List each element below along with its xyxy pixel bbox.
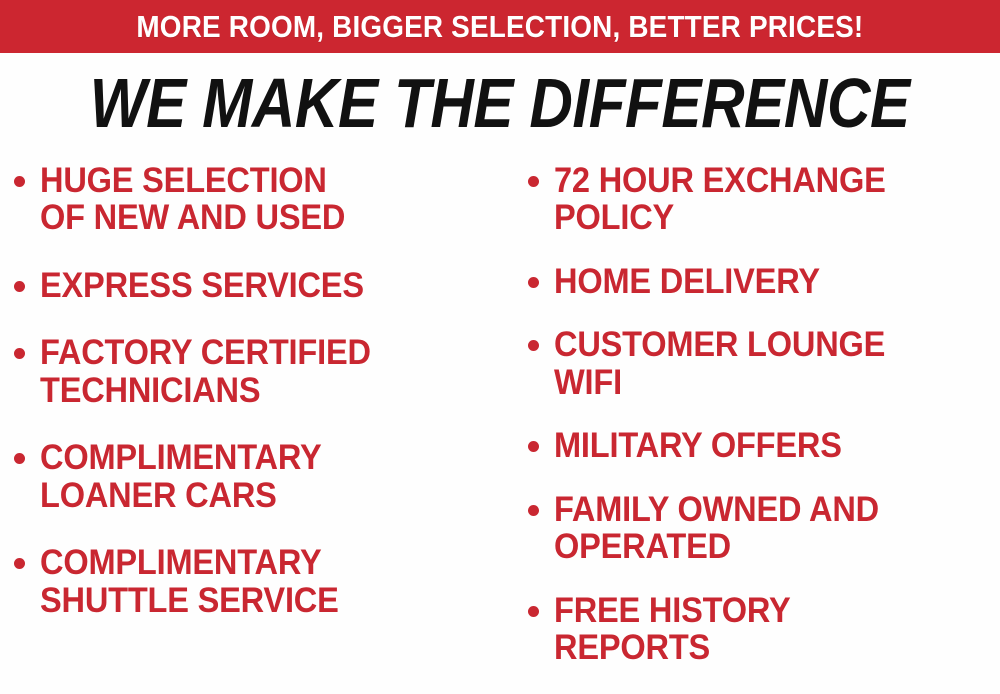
list-item: HOME DELIVERY bbox=[528, 263, 1000, 300]
list-item: HUGE SELECTION OF NEW AND USED bbox=[14, 162, 510, 237]
list-item: COMPLIMENTARY SHUTTLE SERVICE bbox=[14, 544, 510, 619]
features-column-left: HUGE SELECTION OF NEW AND USED EXPRESS S… bbox=[0, 152, 510, 694]
list-item: EXPRESS SERVICES bbox=[14, 267, 510, 304]
feature-label: FREE HISTORY REPORTS bbox=[554, 592, 791, 667]
bullet-dot-icon bbox=[14, 176, 25, 187]
feature-label: FACTORY CERTIFIED TECHNICIANS bbox=[40, 334, 371, 409]
promo-poster: MORE ROOM, BIGGER SELECTION, BETTER PRIC… bbox=[0, 0, 1000, 694]
page-title: WE MAKE THE DIFFERENCE bbox=[90, 68, 910, 138]
features-column-right: 72 HOUR EXCHANGE POLICY HOME DELIVERY CU… bbox=[510, 152, 1000, 694]
feature-label: FAMILY OWNED AND OPERATED bbox=[554, 491, 879, 566]
bullet-dot-icon bbox=[14, 348, 25, 359]
feature-list-left: HUGE SELECTION OF NEW AND USED EXPRESS S… bbox=[14, 162, 510, 619]
features-columns: HUGE SELECTION OF NEW AND USED EXPRESS S… bbox=[0, 152, 1000, 694]
list-item: FACTORY CERTIFIED TECHNICIANS bbox=[14, 334, 510, 409]
list-item: CUSTOMER LOUNGE WIFI bbox=[528, 326, 1000, 401]
bullet-dot-icon bbox=[528, 277, 539, 288]
banner-headline-text: MORE ROOM, BIGGER SELECTION, BETTER PRIC… bbox=[136, 11, 863, 42]
feature-list-right: 72 HOUR EXCHANGE POLICY HOME DELIVERY CU… bbox=[528, 162, 1000, 666]
feature-label: HOME DELIVERY bbox=[554, 263, 820, 300]
feature-label: COMPLIMENTARY LOANER CARS bbox=[40, 439, 321, 514]
bullet-dot-icon bbox=[14, 453, 25, 464]
bullet-dot-icon bbox=[14, 281, 25, 292]
feature-label: EXPRESS SERVICES bbox=[40, 267, 364, 304]
list-item: 72 HOUR EXCHANGE POLICY bbox=[528, 162, 1000, 237]
bullet-dot-icon bbox=[528, 505, 539, 516]
feature-label: COMPLIMENTARY SHUTTLE SERVICE bbox=[40, 544, 339, 619]
list-item: FREE HISTORY REPORTS bbox=[528, 592, 1000, 667]
bullet-dot-icon bbox=[528, 340, 539, 351]
feature-label: 72 HOUR EXCHANGE POLICY bbox=[554, 162, 886, 237]
feature-label: MILITARY OFFERS bbox=[554, 427, 842, 464]
top-banner: MORE ROOM, BIGGER SELECTION, BETTER PRIC… bbox=[0, 0, 1000, 53]
bullet-dot-icon bbox=[14, 558, 25, 569]
bullet-dot-icon bbox=[528, 606, 539, 617]
list-item: COMPLIMENTARY LOANER CARS bbox=[14, 439, 510, 514]
list-item: FAMILY OWNED AND OPERATED bbox=[528, 491, 1000, 566]
bullet-dot-icon bbox=[528, 176, 539, 187]
feature-label: CUSTOMER LOUNGE WIFI bbox=[554, 326, 885, 401]
headline-container: WE MAKE THE DIFFERENCE bbox=[0, 62, 1000, 144]
feature-label: HUGE SELECTION OF NEW AND USED bbox=[40, 162, 345, 237]
bullet-dot-icon bbox=[528, 441, 539, 452]
list-item: MILITARY OFFERS bbox=[528, 427, 1000, 464]
